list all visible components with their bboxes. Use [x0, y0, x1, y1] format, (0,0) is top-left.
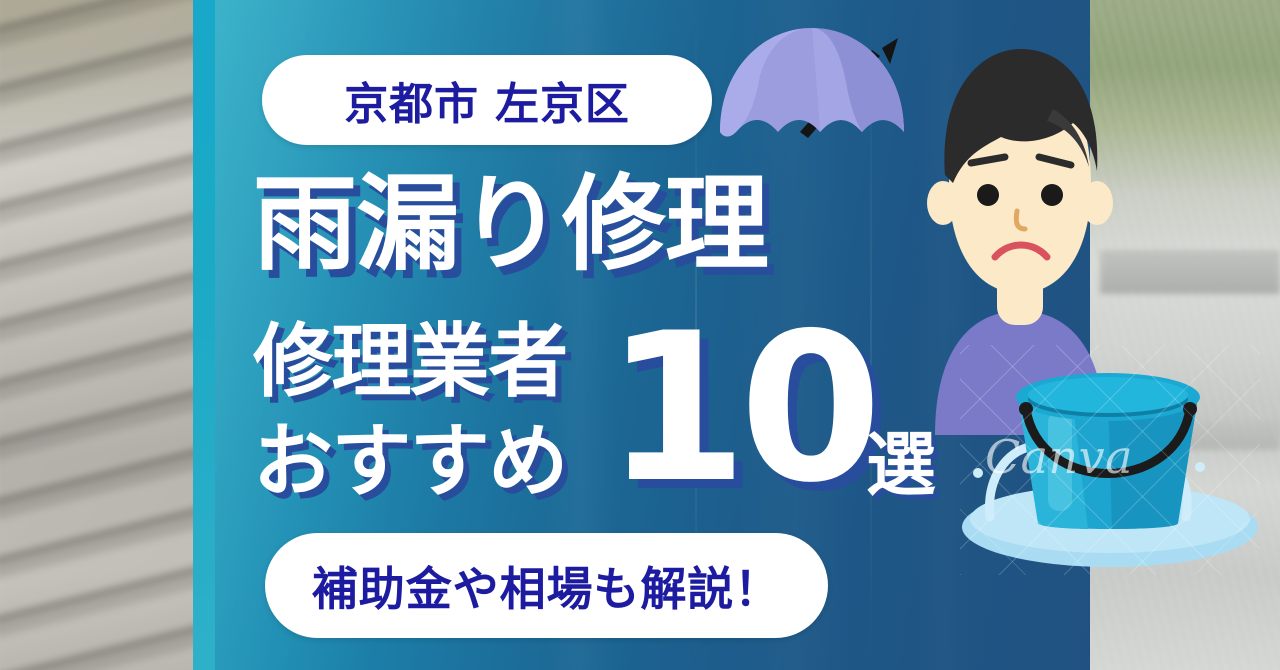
subsidy-badge-label: 補助金や相場も解説！: [312, 553, 781, 619]
page-title: 雨漏り修理: [253, 172, 768, 276]
count-suffix: 選: [866, 430, 936, 500]
subtitle-line-2: おすすめ: [253, 422, 567, 502]
count-number: 10: [605, 315, 874, 504]
bucket-icon: [960, 345, 1260, 575]
roof-tiles-photo-background: [0, 0, 206, 670]
location-badge: 京都市 左京区: [262, 55, 712, 145]
location-badge-label: 京都市 左京区: [344, 68, 629, 132]
subtitle-line-1: 修理業者: [253, 322, 567, 402]
subsidy-badge: 補助金や相場も解説！: [265, 533, 828, 638]
banner-image: Canva 京都市 左京区 雨漏り修理 修理業者 おすすめ 10 選 補助金や相…: [0, 0, 1280, 670]
